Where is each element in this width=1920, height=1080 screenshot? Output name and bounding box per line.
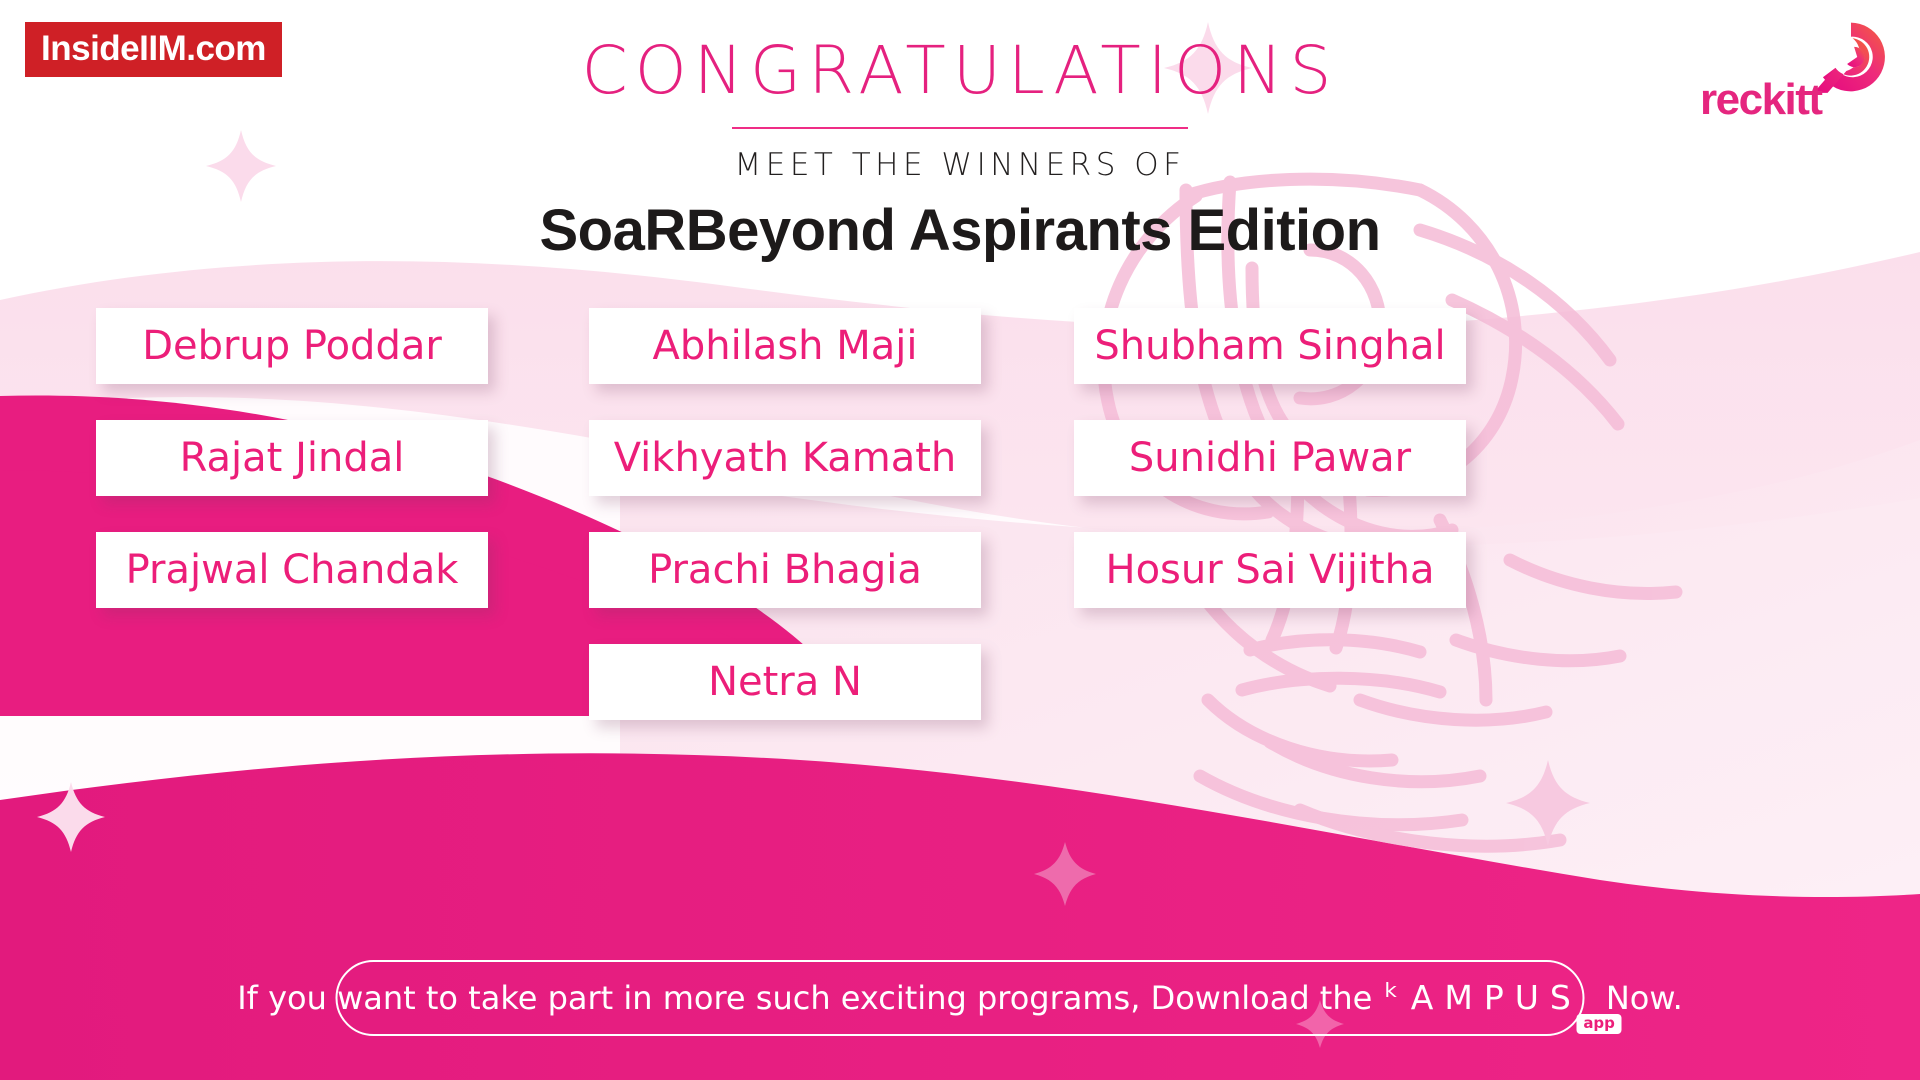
kampus-wordmark[interactable]: ᵏ AMPUS app: [1384, 981, 1582, 1015]
winners-column-3: Shubham Singhal Sunidhi Pawar Hosur Sai …: [1074, 308, 1466, 644]
winners-grid: Debrup Poddar Rajat Jindal Prajwal Chand…: [0, 308, 1920, 738]
winner-name: Netra N: [708, 659, 862, 705]
kampus-letters: AMPUS: [1411, 981, 1582, 1014]
winner-card[interactable]: Abhilash Maji: [589, 308, 981, 384]
app-badge: app: [1576, 1014, 1622, 1034]
winners-column-1: Debrup Poddar Rajat Jindal Prajwal Chand…: [96, 308, 488, 644]
winner-name: Shubham Singhal: [1094, 323, 1445, 369]
winner-card[interactable]: Prajwal Chandak: [96, 532, 488, 608]
poster-canvas: InsideIIM.com reckitt CONGRATULATIONS ME…: [0, 0, 1920, 1080]
winner-name: Vikhyath Kamath: [614, 435, 957, 481]
winner-card[interactable]: Sunidhi Pawar: [1074, 420, 1466, 496]
winner-card[interactable]: Netra N: [589, 644, 981, 720]
winner-name: Hosur Sai Vijitha: [1105, 547, 1434, 593]
download-cta-banner[interactable]: If you want to take part in more such ex…: [336, 960, 1585, 1036]
edition-title: SoaRBeyond Aspirants Edition: [0, 198, 1920, 265]
winner-name: Prachi Bhagia: [648, 547, 922, 593]
winner-card[interactable]: Shubham Singhal: [1074, 308, 1466, 384]
winner-name: Sunidhi Pawar: [1129, 435, 1411, 481]
winner-name: Abhilash Maji: [653, 323, 918, 369]
winner-name: Prajwal Chandak: [126, 547, 459, 593]
page-title: CONGRATULATIONS: [0, 38, 1920, 104]
cta-trailing-text: Now.: [1606, 982, 1683, 1014]
winners-column-2: Abhilash Maji Vikhyath Kamath Prachi Bha…: [589, 308, 981, 756]
winner-name: Debrup Poddar: [142, 323, 442, 369]
cta-text-row: If you want to take part in more such ex…: [237, 981, 1683, 1015]
cta-lead-text: If you want to take part in more such ex…: [237, 982, 1372, 1014]
kampus-k-icon: ᵏ: [1384, 980, 1398, 1014]
title-divider: [732, 127, 1188, 129]
subtitle: MEET THE WINNERS OF: [0, 150, 1920, 181]
winner-name: Rajat Jindal: [180, 435, 405, 481]
winner-card[interactable]: Debrup Poddar: [96, 308, 488, 384]
winner-card[interactable]: Prachi Bhagia: [589, 532, 981, 608]
winner-card[interactable]: Vikhyath Kamath: [589, 420, 981, 496]
winner-card[interactable]: Hosur Sai Vijitha: [1074, 532, 1466, 608]
winner-card[interactable]: Rajat Jindal: [96, 420, 488, 496]
